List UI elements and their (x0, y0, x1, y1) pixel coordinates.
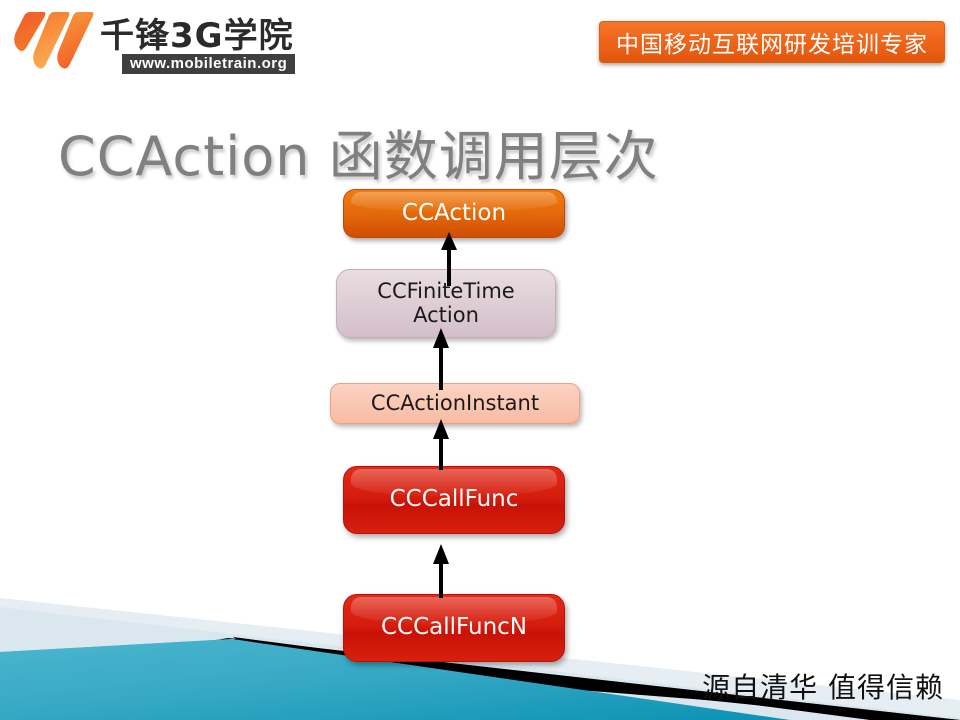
node-cccallfunc-label: CCCallFunc (390, 487, 519, 513)
arrow-cccallfunc-to-ccactioninstant (433, 419, 449, 470)
node-ccfinitetimeaction-label: CCFiniteTime Action (377, 280, 514, 327)
arrow-ccactioninstant-to-ccfinitetimeaction (433, 328, 449, 390)
node-ccfinitetimeaction-line1: CCFiniteTime (377, 279, 514, 303)
class-hierarchy-diagram: CCAction CCFiniteTime Action CCActionIns… (0, 0, 960, 720)
arrow-ccfinitetimeaction-to-ccaction (441, 232, 457, 286)
inheritance-arrows (0, 0, 960, 720)
slide: 千锋3G学院 www.mobiletrain.org 中国移动互联网研发培训专家… (0, 0, 960, 720)
footer-slogan: 源自清华 值得信赖 (702, 666, 944, 706)
node-ccactioninstant-label: CCActionInstant (371, 392, 539, 416)
node-ccfinitetimeaction-line2: Action (413, 303, 479, 327)
node-ccaction-label: CCAction (402, 201, 506, 227)
node-cccallfuncn-label: CCCallFuncN (381, 615, 527, 641)
arrow-cccallfuncn-to-cccallfunc (433, 544, 449, 598)
